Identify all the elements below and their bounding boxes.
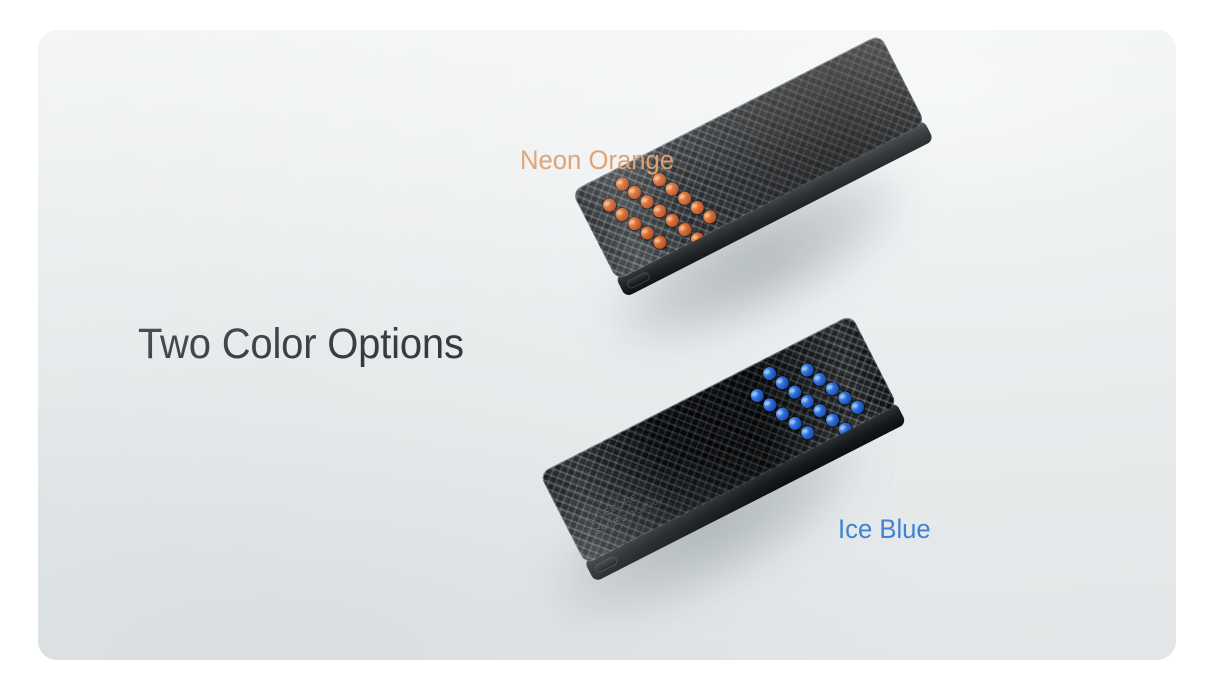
screw (701, 208, 718, 225)
color-label-ice-blue: Ice Blue (838, 514, 931, 545)
screw (799, 424, 816, 441)
photo-plate: NITECORE CARBO 10000 Two Color Options N… (38, 30, 1176, 660)
color-label-neon-orange: Neon Orange (520, 145, 674, 176)
page-title: Two Color Options (138, 322, 464, 367)
product-photo-stage: NITECORE CARBO 10000 Two Color Options N… (0, 0, 1214, 690)
screw (651, 234, 668, 251)
device-blue-unit: NITECORE CARBO 10000 (538, 330, 938, 630)
screw (849, 399, 866, 416)
